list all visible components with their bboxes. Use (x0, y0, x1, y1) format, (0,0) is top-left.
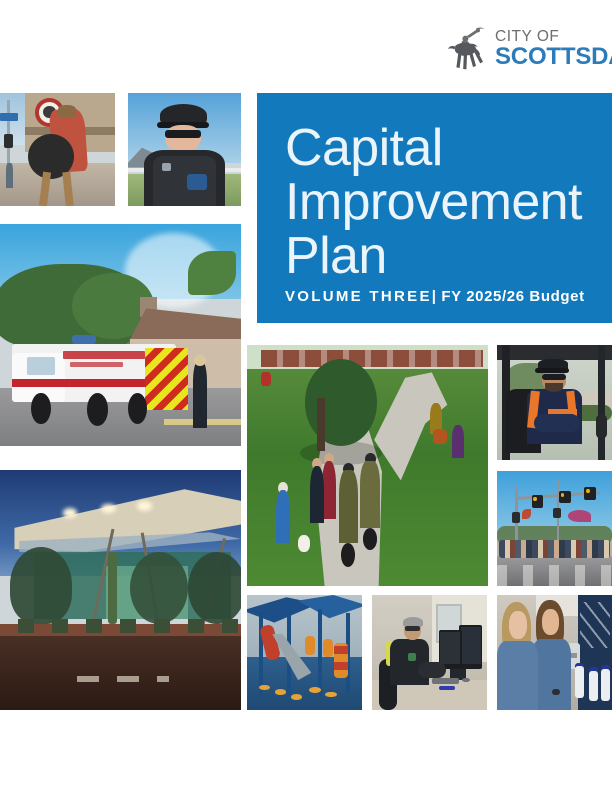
title-panel: Capital Improvement Plan VOLUME THREE| F… (257, 93, 612, 323)
photo-equipment-operator: Public works equipment operator seated i… (497, 345, 612, 460)
city-logo: CITY OF SCOTTSDALE (447, 22, 607, 74)
subtitle-volume: VOLUME THREE (285, 288, 432, 305)
page-title-line-1: Capital (285, 121, 590, 175)
bucking-horse-and-rider-icon (447, 25, 489, 71)
photo-old-town-sign: Welcome to Historic Old Town Scottsdale … (0, 93, 115, 206)
logo-scottsdale-text: SCOTTSDALE (495, 45, 612, 69)
photo-office-workstation: City staff member working at a dual-moni… (372, 595, 487, 710)
photo-playground: Shaded community playground with slides … (247, 595, 362, 710)
photo-greenbelt-path: Walkers, joggers and bicycle officers on… (247, 345, 488, 586)
photo-bike-patrol-officer: Scottsdale police bicycle patrol officer… (128, 93, 241, 206)
photo-fire-engine: Scottsdale Fire paramedic unit engine at… (0, 224, 241, 446)
subtitle-separator: | (432, 288, 437, 305)
subtitle: VOLUME THREE| FY 2025/26 Budget (285, 288, 585, 305)
photo-pedestrian-crossing: Pedestrians crossing a street at a signa… (497, 471, 612, 586)
page-title-line-3: Plan (285, 229, 590, 283)
subtitle-budget: FY 2025/26 Budget (441, 288, 584, 305)
photo-civic-building: Modern civic building with cantilevered … (0, 470, 241, 710)
page-title-line-2: Improvement (285, 175, 590, 229)
logo-wordmark: CITY OF SCOTTSDALE (495, 27, 612, 70)
cover-page: CITY OF SCOTTSDALE Capital Improvement P… (0, 0, 612, 792)
photo-water-bottle-station: Two residents filling reusable water bot… (497, 595, 612, 710)
